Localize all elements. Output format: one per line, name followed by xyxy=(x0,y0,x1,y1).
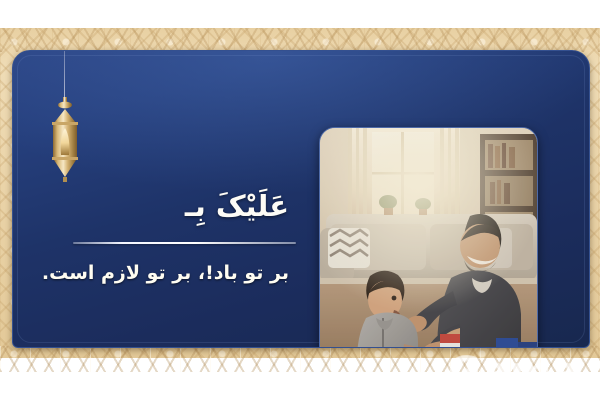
bottom-white-margin xyxy=(0,372,600,400)
bottom-ornament-band xyxy=(0,346,600,372)
persian-translation: بر تو باد!، بر تو لازم است. xyxy=(42,259,289,288)
arabic-phrase: عَلَیْکَ بِـ xyxy=(185,185,289,227)
father-son-photo xyxy=(319,127,538,348)
slide-stage: عَلَیْکَ بِـ بر تو باد!، بر تو لازم است. xyxy=(0,0,600,400)
text-divider xyxy=(73,242,296,244)
lantern-icon xyxy=(41,50,89,189)
top-ornament-band xyxy=(0,28,600,52)
lantern-cord xyxy=(64,50,65,101)
islamic-star-ornament-icon xyxy=(525,347,587,348)
top-white-margin xyxy=(0,0,600,28)
content-panel: عَلَیْکَ بِـ بر تو باد!، بر تو لازم است. xyxy=(12,50,590,348)
